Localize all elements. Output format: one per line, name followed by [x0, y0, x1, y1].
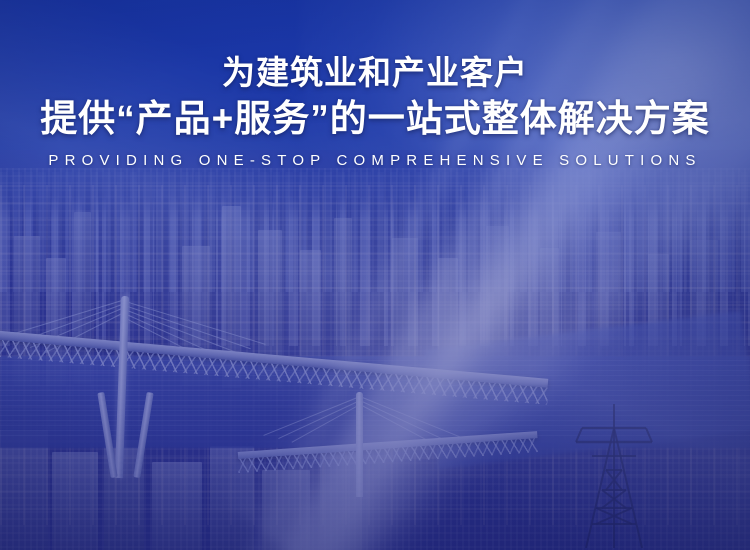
banner-subtitle: PROVIDING ONE-STOP COMPREHENSIVE SOLUTIO… [0, 142, 750, 172]
headline-line-1: 为建筑业和产业客户 [0, 0, 750, 93]
banner-copy: 为建筑业和产业客户 提供“产品+服务”的一站式整体解决方案 PROVIDING … [0, 0, 750, 172]
headline-line-2: 提供“产品+服务”的一站式整体解决方案 [0, 93, 750, 142]
hero-banner: 为建筑业和产业客户 提供“产品+服务”的一站式整体解决方案 PROVIDING … [0, 0, 750, 550]
